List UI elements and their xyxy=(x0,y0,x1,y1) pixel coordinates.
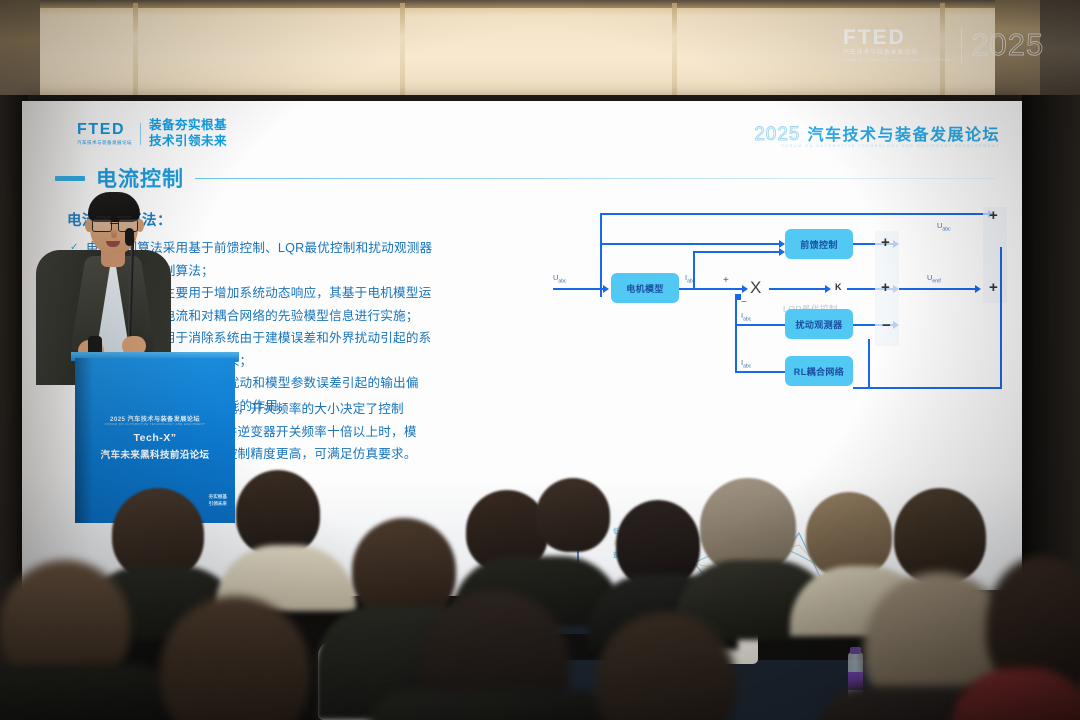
diagram-wire xyxy=(600,213,990,215)
block-rl-coupling-network: RL耦合网络 xyxy=(785,356,853,386)
diagram-wire xyxy=(1000,247,1002,389)
sign-plus: + xyxy=(723,275,729,286)
wall-seam xyxy=(672,3,677,100)
venue-logo-brand-cn: 汽车技术与装备发展论坛 xyxy=(843,50,952,57)
signal-label-current-fb2: Iabc xyxy=(741,358,751,370)
venue-logo-divider xyxy=(961,27,962,63)
audience-head xyxy=(236,470,320,556)
speaker-brow-right xyxy=(117,216,132,218)
block-disturbance-observer: 扰动观测器 xyxy=(785,309,853,339)
wall-seam xyxy=(133,3,138,100)
diagram-wire xyxy=(600,213,602,297)
venue-logo-year: 2025 xyxy=(971,29,1044,60)
sum-plus: + xyxy=(881,279,890,296)
diagram-arrow xyxy=(603,285,609,293)
diagram-wire xyxy=(679,288,744,290)
venue-logo-brand: FTED xyxy=(843,27,952,48)
audience-head xyxy=(894,488,986,584)
audience-head xyxy=(536,478,610,552)
speaker-nose xyxy=(111,230,117,238)
sum-plus: + xyxy=(989,207,998,224)
signal-label-current-fb1: Iabc xyxy=(741,311,751,323)
conference-presentation-photo: FTED 汽车技术与装备发展论坛 FORUM ON TECHNOLOGY AND… xyxy=(0,0,1080,720)
slide-header-right: 2025 汽车技术与装备发展论坛 xyxy=(754,121,1000,146)
diagram-wire xyxy=(693,251,781,253)
bottle-cap xyxy=(850,647,861,654)
diagram-wire xyxy=(899,288,977,290)
podium-logo-en: FORUM ON AUTOMOTIVE TECHNOLOGY AND EQUIP… xyxy=(75,422,235,426)
slide-header-year: 2025 xyxy=(754,124,800,146)
glasses-lens-left xyxy=(92,219,112,232)
slide-logo: FTED 汽车技术与装备发展论坛 装备夯实根基 技术引领未来 xyxy=(77,118,227,149)
sign-minus: − xyxy=(741,297,747,308)
speaker-brow-left xyxy=(96,216,111,218)
venue-logo-mark: FTED 汽车技术与装备发展论坛 FORUM ON TECHNOLOGY AND… xyxy=(843,27,952,63)
signal-label-emf: Uemf xyxy=(927,273,941,285)
wall-top-trim xyxy=(0,0,1080,8)
diagram-wire xyxy=(868,339,870,387)
venue-logo-brand-en: FORUM ON TECHNOLOGY AND EQUIPMENT DEVELO… xyxy=(843,58,952,62)
diagram-arrow xyxy=(825,285,831,293)
slide-title: 电流控制 xyxy=(96,163,184,193)
title-rule xyxy=(195,178,995,179)
control-block-diagram: Uabc 电机模型 Iabc + X K 前馈控制 xyxy=(545,201,1005,406)
diagram-wire xyxy=(693,251,695,289)
diagram-wire xyxy=(600,243,781,245)
podium-shadow xyxy=(75,358,93,523)
microphone-head xyxy=(125,228,134,246)
signal-label-output: Uabc xyxy=(937,221,950,233)
diagram-wire xyxy=(735,324,785,326)
diagram-wire xyxy=(553,288,605,290)
glasses-bridge xyxy=(110,223,118,224)
diagram-arrow xyxy=(975,285,981,293)
wall-left-dark-panel xyxy=(0,0,40,100)
sum-plus: + xyxy=(881,234,890,251)
slide-header-forum-name: 汽车技术与装备发展论坛 xyxy=(807,121,1000,145)
audience-shoulders-foreground xyxy=(368,690,618,720)
wall-seam xyxy=(400,3,405,100)
multiplier-node: X xyxy=(750,278,761,298)
slide-title-row: 电流控制 xyxy=(55,163,995,193)
block-feedforward-control: 前馈控制 xyxy=(785,229,853,259)
sum-plus: + xyxy=(989,279,998,296)
block-motor-model: 电机模型 xyxy=(611,273,679,303)
diagram-wire xyxy=(769,288,827,290)
sum-minus: − xyxy=(882,317,891,334)
slide-tagline-line2: 技术引领未来 xyxy=(149,134,227,150)
podium-brand: Tech-X” xyxy=(75,432,235,444)
gain-K: K xyxy=(835,282,842,292)
slide-header-forum-name-en: FORUM ON AUTOMOTIVE TECHNOLOGY AND EQUIP… xyxy=(781,144,1000,148)
diagram-wire xyxy=(735,371,785,373)
podium-subtitle: 汽车未来黑科技前沿论坛 xyxy=(75,447,235,461)
diagram-wire xyxy=(853,387,1002,389)
slide-logo-divider xyxy=(140,123,141,145)
diagram-wire xyxy=(735,297,737,371)
diagram-arrow xyxy=(742,285,748,293)
signal-label-input: Uabc xyxy=(553,273,566,285)
venue-logo: FTED 汽车技术与装备发展论坛 FORUM ON TECHNOLOGY AND… xyxy=(843,22,1058,67)
slide-tagline-line1: 装备夯实根基 xyxy=(149,118,227,134)
